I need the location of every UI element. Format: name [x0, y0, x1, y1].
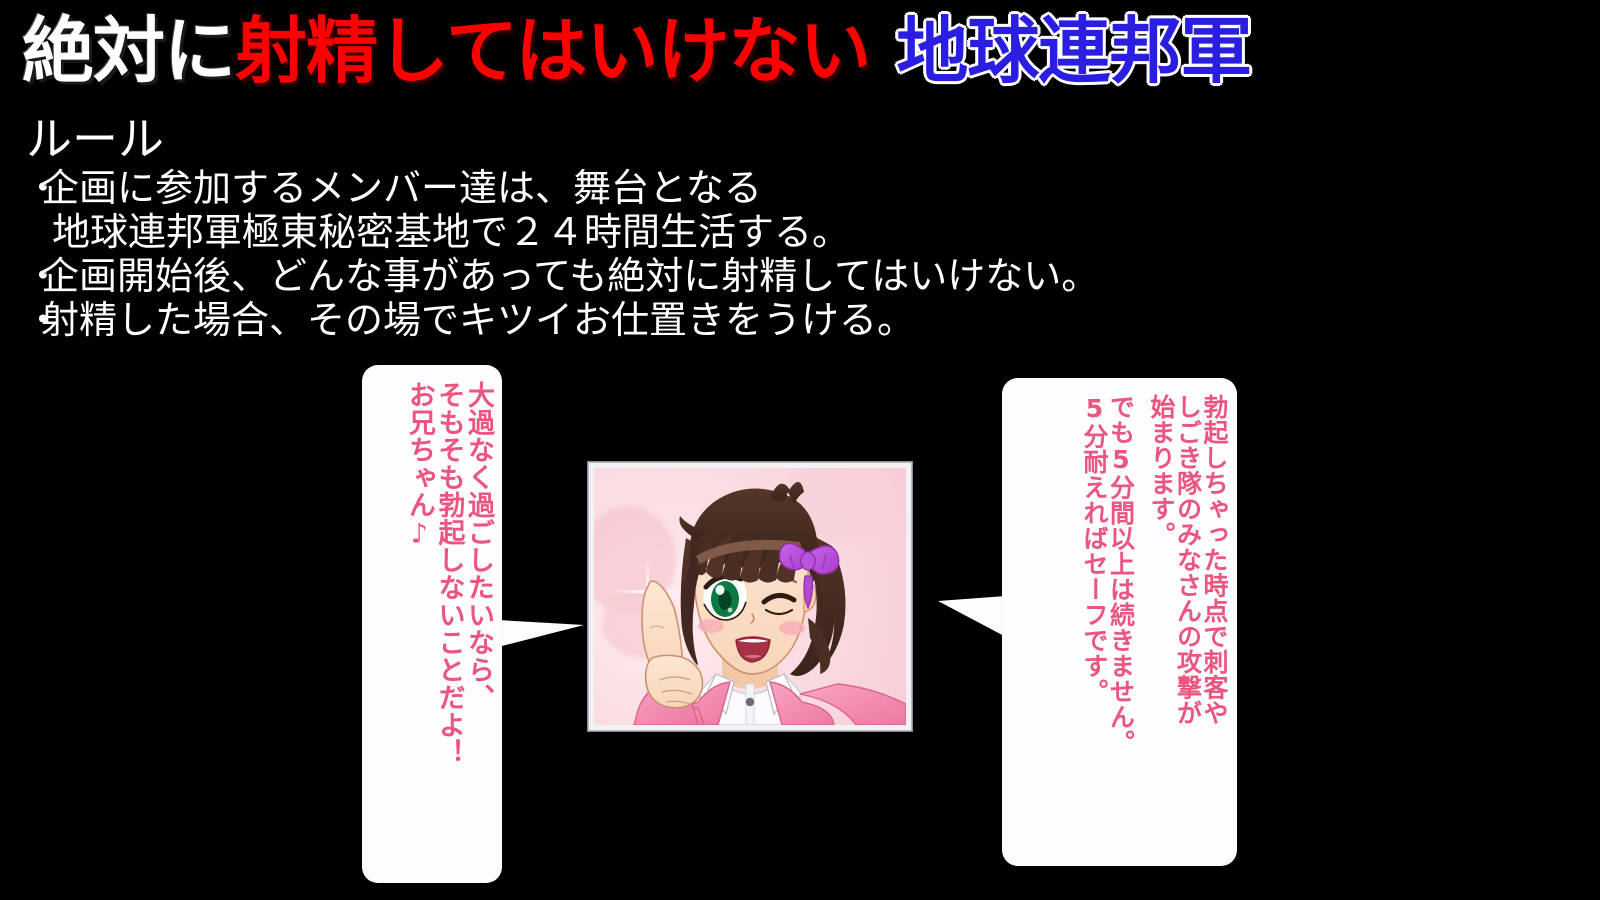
blush: [698, 619, 724, 633]
speech-bubble-tail-right: [938, 596, 1006, 637]
rule-item: ・企画に参加するメンバー達は、舞台となる: [24, 166, 1324, 210]
rule-text: 企画開始後、どんな事があっても絶対に射精してはいけない。: [41, 254, 1099, 298]
slide-canvas: 絶対に射精してはいけない地球連邦軍 ルール ・企画に参加するメンバー達は、舞台と…: [0, 0, 1600, 900]
rule-text: 射精した場合、その場でキツイお仕置きをうける。: [41, 298, 915, 342]
speech-bubble-left: 大過なく過ごしたいなら、 そもそも勃起しないことだよ！ お兄ちゃん♪: [362, 365, 502, 883]
vertical-column: お兄ちゃん♪: [405, 381, 433, 550]
vertical-column: そもそも勃起しないことだよ！: [435, 381, 463, 766]
speech-bubble-left-text: 大過なく過ごしたいなら、 そもそも勃起しないことだよ！ お兄ちゃん♪: [362, 365, 502, 883]
vertical-column: 勃起しちゃった時点で刺客や: [1202, 394, 1228, 726]
page-title: 絶対に射精してはいけない地球連邦軍: [22, 6, 1251, 96]
character-image: [594, 468, 906, 725]
rule-text: 地球連邦軍極東秘密基地で２４時間生活する。: [52, 210, 850, 254]
rules-heading: ルール: [26, 113, 164, 165]
rules-list: ・企画に参加するメンバー達は、舞台となる 地球連邦軍極東秘密基地で２４時間生活す…: [24, 166, 1324, 342]
rule-item: ・企画開始後、どんな事があっても絶対に射精してはいけない。: [24, 254, 1324, 298]
blush: [779, 621, 805, 635]
bullet-icon: ・: [24, 166, 41, 210]
title-segment-white: 絶対に: [22, 6, 235, 96]
rule-text: 企画に参加するメンバー達は、舞台となる: [41, 166, 762, 210]
rule-item: ・射精した場合、その場でキツイお仕置きをうける。: [24, 298, 1324, 342]
bullet-icon: ・: [24, 298, 41, 342]
title-segment-red: 射精してはいけない: [235, 6, 870, 96]
bullet-icon: ・: [24, 254, 41, 298]
rule-item-continuation: 地球連邦軍極東秘密基地で２４時間生活する。: [24, 210, 1324, 254]
speech-bubble-right: 勃起しちゃった時点で刺客や しごき隊のみなさんの攻撃が 始まります。 でも5分間…: [1002, 378, 1237, 866]
vertical-column: でも5分間以上は続きません。: [1108, 394, 1134, 755]
vertical-column: しごき隊のみなさんの攻撃が: [1175, 394, 1201, 726]
speech-bubble-tail-left: [498, 620, 584, 647]
vertical-column: 始まります。: [1149, 394, 1175, 547]
vertical-column: 5分耐えればセーフです。: [1082, 394, 1108, 704]
title-segment-blue: 地球連邦軍: [896, 6, 1251, 96]
anime-girl-illustration: [594, 468, 906, 725]
speech-bubble-right-text: 勃起しちゃった時点で刺客や しごき隊のみなさんの攻撃が 始まります。 でも5分間…: [1002, 378, 1237, 866]
vertical-column: 大過なく過ごしたいなら、: [464, 381, 492, 711]
character-image-frame: [588, 462, 912, 731]
shirt-button: [746, 698, 754, 706]
